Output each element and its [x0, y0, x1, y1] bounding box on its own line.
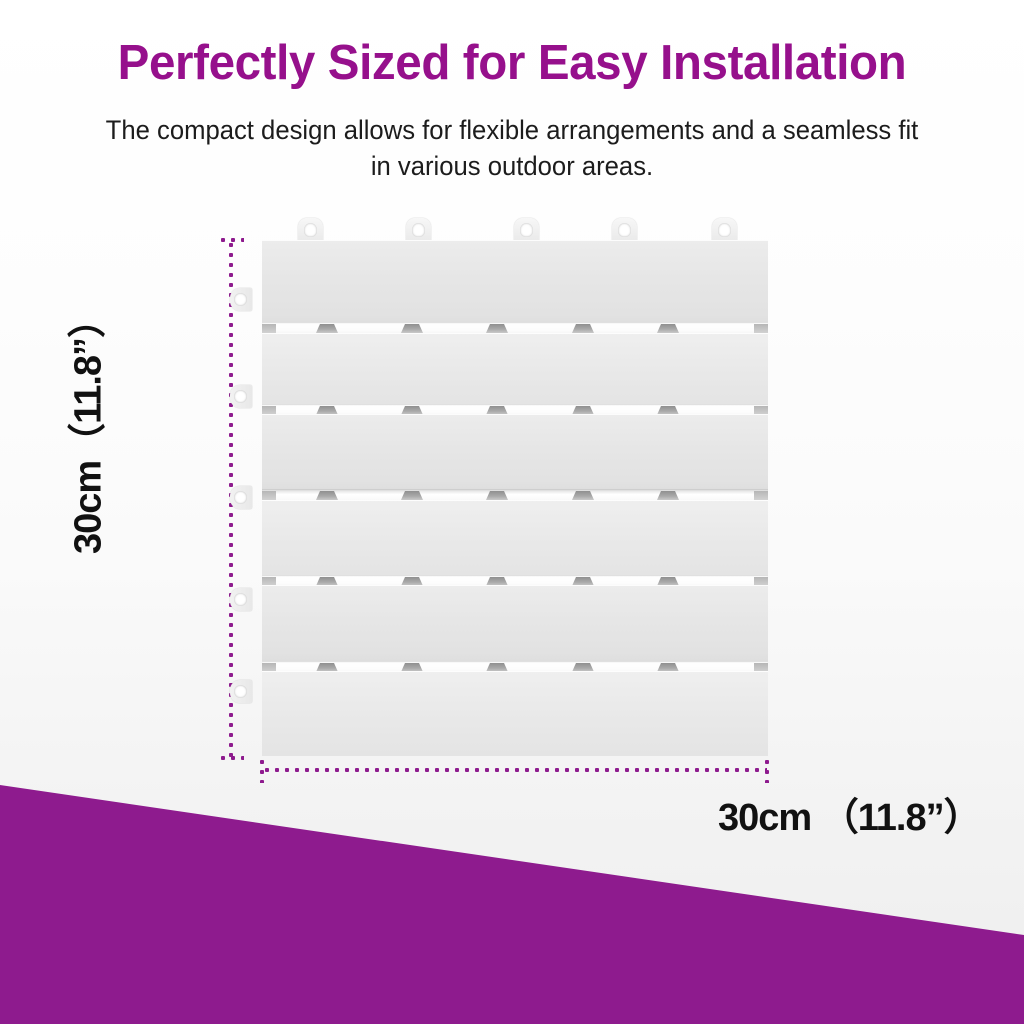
tile-slat: [262, 671, 768, 756]
product-tile-image: [244, 218, 768, 763]
slat-clip: [316, 491, 338, 500]
page-title: Perfectly Sized for Easy Installation: [15, 38, 1008, 89]
tile-slat: [262, 333, 768, 405]
dimension-vertical-cap-bottom: [218, 756, 244, 760]
left-connector-tab: [230, 588, 252, 611]
slat-clip: [401, 324, 423, 333]
slat-clip: [316, 324, 338, 333]
page-subtitle: The compact design allows for flexible a…: [104, 113, 921, 185]
tile-slat: [262, 240, 768, 325]
slat-clip: [572, 324, 594, 333]
slat-clip: [486, 491, 508, 500]
slat-clip: [262, 491, 276, 500]
slat-clip: [572, 491, 594, 500]
slat-clip: [486, 324, 508, 333]
slat-clip: [401, 491, 423, 500]
slat-clip: [657, 491, 679, 500]
left-connector-tab: [230, 385, 252, 408]
slat-clip: [754, 324, 768, 333]
tile-slat: [262, 414, 768, 490]
slat-clip: [754, 491, 768, 500]
dimension-label-width: 30cm （11.8”）: [718, 786, 981, 841]
slat-clip: [262, 324, 276, 333]
dimension-label-height: 30cm（11.8”）: [57, 278, 112, 578]
left-connector-tab: [230, 486, 252, 509]
slat-clip: [657, 324, 679, 333]
left-connector-tab: [230, 288, 252, 311]
tile-slat: [262, 585, 768, 662]
left-connector-tab: [230, 680, 252, 703]
dimension-line-horizontal: [262, 768, 767, 772]
infographic-page: Perfectly Sized for Easy Installation Th…: [0, 0, 1024, 1024]
tile-slat: [262, 500, 768, 576]
